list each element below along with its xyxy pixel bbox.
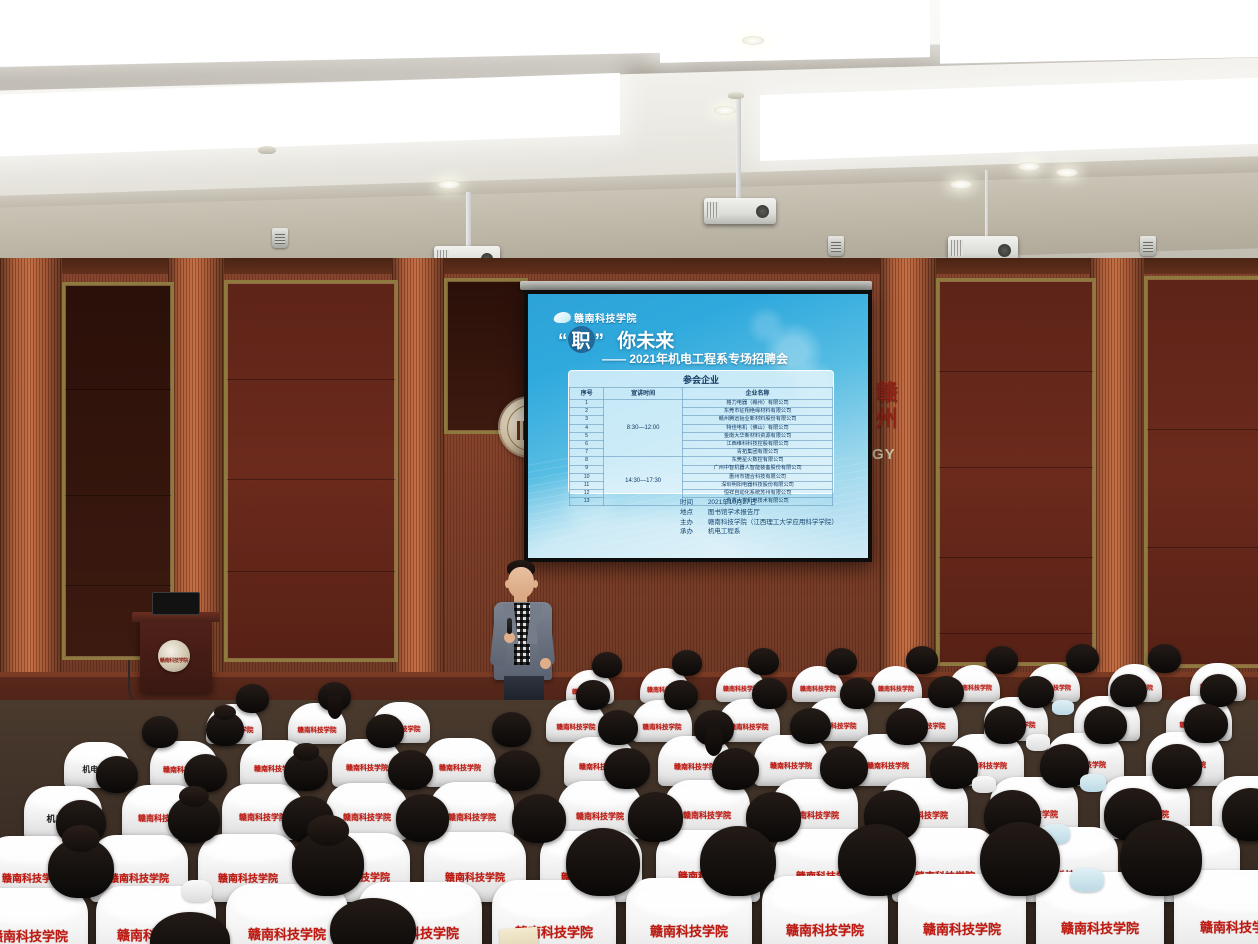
audience-head — [930, 746, 978, 789]
audience-head — [628, 792, 683, 842]
cell-no: 6 — [570, 440, 604, 448]
audience-head — [494, 750, 540, 791]
cell-no: 9 — [570, 465, 604, 473]
cell-no: 1 — [570, 400, 604, 408]
speaker-head — [508, 567, 534, 598]
slide-footer: 时间 2021年10月27日 地点 图书馆学术报告厅 主办 赣南科技学院（江西理… — [680, 498, 838, 537]
slide-footer-line: 承办 机电工程系 — [680, 527, 838, 537]
downlight-1 — [742, 36, 764, 45]
table-body: 1 8:30—12:00 格力电器（赣州）有限公司 2 东莞市征翔绝缘材料有限公… — [570, 400, 833, 506]
seat-label: 赣南科技学院 — [626, 921, 752, 940]
cell-company: 深圳明阳电器科技股份有限公司 — [683, 481, 833, 489]
audience-head — [1148, 644, 1181, 673]
cell-company: 青拓集团有限公司 — [683, 449, 833, 457]
slide-footer-line: 主办 赣南科技学院（江西理工大学应用科学学院） — [680, 518, 838, 528]
face-mask — [972, 776, 996, 793]
ceiling-speaker-3 — [1140, 236, 1156, 256]
seat-label: 赣南科技学院 — [762, 920, 888, 939]
slide-content: 赣南科技学院 “职” 你未来 —— 2021年机电工程系专场招聘会 参会企业 序… — [528, 294, 868, 558]
downlight-5 — [438, 180, 460, 189]
slide-subtitle: —— 2021年机电工程系专场招聘会 — [602, 350, 788, 367]
audience-head — [752, 678, 787, 709]
audience-head — [206, 712, 244, 746]
cell-no: 3 — [570, 416, 604, 424]
slide-logo-text: 赣南科技学院 — [574, 310, 637, 325]
cell-company: 东莞星火数控有限公司 — [683, 457, 833, 465]
cell-company: 格力电器（赣州）有限公司 — [683, 400, 833, 408]
audience-head — [826, 648, 857, 675]
audience-head — [1018, 676, 1054, 708]
cell-no: 7 — [570, 449, 604, 457]
screen-roller-case — [520, 281, 872, 290]
footer-value-host: 赣南科技学院（江西理工大学应用科学学院） — [708, 519, 838, 526]
cell-company: 惠州市捷合科技有限公司 — [683, 473, 833, 481]
slide-footer-line: 时间 2021年10月27日 — [680, 498, 838, 508]
projection-screen: 赣南科技学院 “职” 你未来 —— 2021年机电工程系专场招聘会 参会企业 序… — [524, 290, 872, 562]
audience-head — [840, 678, 875, 709]
seat-label: 赣南科技学院 — [424, 763, 496, 773]
cell-time-afternoon: 14:30—17:30 — [604, 457, 683, 506]
audience-head — [604, 748, 650, 789]
audience-head — [1084, 706, 1127, 744]
audience-head — [142, 716, 178, 748]
audience-head — [790, 708, 831, 744]
footer-label-time: 时间 — [680, 498, 706, 508]
audience-head — [928, 676, 964, 708]
audience-head — [712, 748, 759, 790]
cell-no: 12 — [570, 490, 604, 498]
audience-head — [1110, 674, 1147, 707]
slide-card-header: 参会企业 — [569, 371, 833, 387]
th-company: 企业名称 — [683, 388, 833, 400]
slide-title-quote-open: “ — [558, 331, 568, 352]
lecture-hall-photo: 赣州 GY 赣南科技学院 “职” 你未来 —— 2021年机电工程系专场招聘会 … — [0, 0, 1258, 944]
slide-company-table: 序号 宣讲时间 企业名称 1 8:30—12:00 格力电器（赣州）有限公司 2… — [569, 387, 833, 506]
audience-head — [566, 828, 640, 896]
ceiling-lightwell-2 — [660, 0, 930, 63]
podium-emblem-icon: 赣南科技学院 — [158, 640, 190, 672]
projector-2-vent — [951, 240, 963, 256]
wall-panel-2 — [936, 278, 1096, 666]
ceiling-speaker-2 — [828, 236, 844, 256]
th-no: 序号 — [570, 388, 604, 400]
audience-head — [664, 680, 698, 710]
ceiling — [0, 0, 1258, 300]
seat-label: 赣南科技学院 — [0, 926, 88, 944]
audience-head — [886, 708, 928, 745]
audience-head — [396, 794, 449, 842]
wall-pilaster-3 — [392, 258, 444, 678]
handout-paper — [499, 927, 539, 944]
cell-company: 恒祥自动化系统苏州有限公司 — [683, 490, 833, 498]
slide-footer-line: 地点 图书馆学术报告厅 — [680, 508, 838, 518]
audience-head — [1120, 820, 1202, 896]
slide-title: “职” 你未来 — [558, 326, 674, 353]
speaker-trousers — [504, 676, 544, 702]
face-mask — [182, 880, 212, 902]
slide-title-quote-close: ” — [595, 331, 605, 352]
audience-head — [598, 710, 638, 745]
audience-head — [576, 680, 610, 710]
audience-head — [1152, 744, 1202, 789]
downlight-2 — [1056, 168, 1078, 177]
downlight-4 — [1018, 162, 1040, 171]
audience-head — [748, 648, 779, 675]
footer-value-organizer: 机电工程系 — [708, 528, 741, 535]
cell-time-morning: 8:30—12:00 — [604, 400, 683, 457]
cell-no: 11 — [570, 481, 604, 489]
downlight-6 — [950, 180, 972, 189]
microphone — [507, 618, 512, 634]
cell-no: 10 — [570, 473, 604, 481]
cell-company: 赣州腾远钴业新材料股份有限公司 — [683, 416, 833, 424]
seat-label: 赣南科技学院 — [870, 684, 922, 693]
speaker-ear-left — [505, 580, 510, 588]
audience-head — [492, 712, 531, 747]
projector-ceiling-plate-1 — [728, 92, 744, 99]
wall-pilaster-5 — [1090, 258, 1144, 678]
projector-2-lens — [998, 244, 1011, 257]
wall-pilaster-1 — [0, 258, 62, 678]
seat: 赣南科技学院 — [424, 738, 496, 787]
audience-head — [1066, 644, 1099, 673]
audience-head — [168, 796, 220, 843]
face-mask — [1052, 700, 1074, 715]
table-header-row: 序号 宣讲时间 企业名称 — [570, 388, 833, 400]
downlight-3 — [714, 106, 736, 115]
cell-company: 东莞市征翔绝缘材料有限公司 — [683, 408, 833, 416]
cell-company: 广州中智机器人智能装备股份有限公司 — [683, 465, 833, 473]
slide-title-rest: 你未来 — [617, 331, 674, 352]
cell-company: 特佳电机（佛山）有限公司 — [683, 424, 833, 432]
cell-no: 2 — [570, 408, 604, 416]
audience-head — [96, 756, 138, 793]
face-mask — [1026, 734, 1050, 751]
th-time: 宣讲时间 — [604, 388, 683, 400]
audience-head — [672, 650, 702, 676]
speaker-hand-right — [540, 658, 551, 669]
seat-label: 赣南科技学院 — [546, 721, 606, 731]
ceiling-speaker-1 — [272, 228, 288, 248]
face-mask — [1070, 868, 1104, 892]
cell-no: 8 — [570, 457, 604, 465]
audience-head — [388, 750, 433, 790]
slide-title-badge: 职 — [568, 326, 595, 353]
slide-school-logo: 赣南科技学院 — [554, 310, 637, 325]
table-row: 8 14:30—17:30 东莞星火数控有限公司 — [570, 457, 833, 465]
audience-head — [980, 822, 1060, 896]
footer-label-organizer: 承办 — [680, 527, 706, 537]
audience-head — [236, 684, 269, 713]
projector-mount-rod-2 — [985, 170, 988, 244]
seat-label: 赣南科技学院 — [632, 721, 692, 731]
audience-head — [838, 824, 916, 896]
audience-head — [694, 710, 734, 746]
projector-mount-rod-3 — [466, 192, 471, 250]
projector-1-lens — [756, 205, 769, 218]
projector-mount-rod-1 — [736, 96, 741, 214]
seat-label: 赣南科技学院 — [288, 724, 346, 734]
slide-logo-mark-icon — [553, 312, 572, 323]
wall-gy-mark: GY — [872, 446, 896, 463]
audience-head — [906, 646, 938, 674]
audience-head — [592, 652, 622, 678]
seat-label: 赣南科技学院 — [792, 684, 844, 693]
projector-1 — [704, 198, 776, 224]
table-row: 1 8:30—12:00 格力电器（赣州）有限公司 — [570, 400, 833, 408]
seat-label: 赣南科技学院 — [1174, 917, 1258, 936]
podium-emblem-text: 赣南科技学院 — [158, 657, 190, 664]
wall-pilaster-4 — [880, 258, 936, 678]
audience-head — [48, 838, 114, 898]
footer-label-place: 地点 — [680, 508, 706, 518]
slide-company-card: 参会企业 序号 宣讲时间 企业名称 1 8:30—12:00 格力电器（赣州） — [568, 370, 834, 494]
footer-value-time: 2021年10月27日 — [708, 499, 756, 506]
cell-no: 5 — [570, 432, 604, 440]
seat-label: 赣南科技学院 — [198, 870, 298, 885]
audience-head — [366, 714, 404, 748]
audience-head — [284, 752, 328, 791]
audience-head — [318, 682, 351, 711]
audience-head — [984, 706, 1026, 744]
cell-no: 13 — [570, 498, 604, 506]
smoke-detector-icon — [258, 146, 276, 154]
wall-panel-3 — [1144, 276, 1258, 668]
footer-value-place: 图书馆学术报告厅 — [708, 509, 760, 516]
audience-head — [512, 794, 566, 843]
wall-panel-1 — [224, 280, 398, 662]
projector-1-vent — [707, 202, 719, 218]
audience-head — [1200, 674, 1237, 707]
audience-head — [292, 830, 364, 896]
seat-label: 赣南科技学院 — [1036, 918, 1164, 937]
audience-head — [700, 826, 776, 896]
seat-label: 赣南科技学院 — [898, 919, 1026, 938]
audience-head — [820, 746, 868, 789]
cell-no: 4 — [570, 424, 604, 432]
podium-monitor — [152, 592, 200, 615]
wall-red-characters: 赣州 — [876, 380, 900, 432]
audience-head — [986, 646, 1018, 674]
face-mask — [1080, 774, 1106, 792]
ceiling-lightwell-3 — [940, 0, 1258, 64]
speaker-ear-right — [533, 580, 538, 588]
seat-label: 赣南科技学院 — [754, 761, 828, 771]
cell-company: 江西维科科技控股有限公司 — [683, 440, 833, 448]
footer-label-host: 主办 — [680, 518, 706, 528]
audience-head — [1184, 704, 1228, 743]
cell-company: 金南大华新材料资源有限公司 — [683, 432, 833, 440]
